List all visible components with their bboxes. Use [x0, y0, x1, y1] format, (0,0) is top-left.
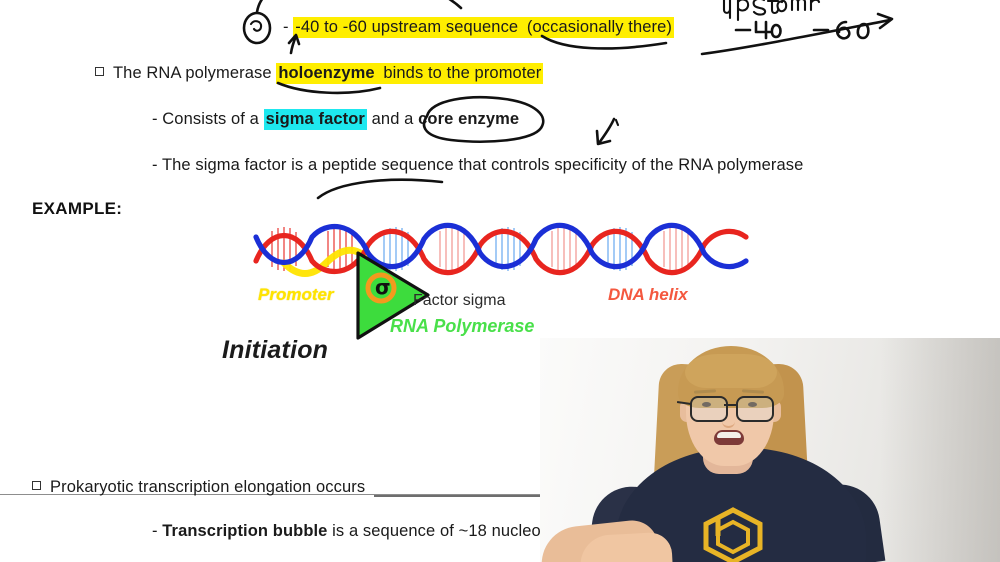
bullet-consists-before: - Consists of a [152, 110, 264, 128]
handwritten-arrow-downleft [592, 116, 622, 150]
bullet-square-icon [95, 67, 104, 76]
bullet-holoenzyme-before: The RNA polymerase [113, 64, 276, 82]
rna-polymerase-label: RNA Polymerase [390, 316, 534, 337]
presenter-hair-bangs [685, 354, 777, 388]
bullet-sigma-factor-highlight: sigma factor [264, 109, 367, 130]
bullet-elongation: Prokaryotic transcription elongation occ… [32, 478, 365, 497]
bullet-bubble-bold: Transcription bubble [162, 522, 327, 540]
initiation-label: Initiation [222, 336, 328, 365]
lecture-slide: - -40 to -60 upstream sequence (occasion… [0, 0, 1000, 562]
bullet-core-enzyme: core enzyme [418, 110, 519, 128]
presenter-webcam-overlay [540, 338, 1000, 562]
handwritten-curve-top [255, 0, 465, 14]
bullet-holoenzyme-after: binds to the promoter [377, 63, 544, 84]
dna-helix-label: DNA helix [608, 285, 688, 305]
handwritten-underline-sigma-desc [316, 176, 446, 202]
bullet-consists-of: - Consists of a sigma factor and a core … [152, 110, 519, 129]
bullet-upstream-prefix: - [283, 18, 293, 36]
dna-transcription-diagram: σ Promoter Factor sigma RNA Polymerase D… [250, 215, 750, 350]
factor-sigma-label: Factor sigma [413, 292, 505, 310]
bullet-sigma-factor-description: - The sigma factor is a peptide sequence… [152, 156, 803, 175]
bullet-upstream-suffix: (occasionally there) [520, 17, 674, 38]
presenter-nose [722, 414, 735, 428]
bullet-upstream-sequence: - -40 to -60 upstream sequence (occasion… [283, 18, 674, 37]
handwritten-circle-annotation [240, 10, 280, 50]
bullet-bubble-before: - [152, 522, 162, 540]
presenter-teeth [717, 432, 741, 438]
example-label: EXAMPLE: [32, 199, 122, 219]
presenter-glasses-right-lens [736, 396, 774, 422]
bullet-holoenzyme-highlight: holoenzyme [276, 63, 376, 84]
presenter-shirt-logo [698, 506, 768, 562]
handwritten-upstream-note [718, 0, 908, 56]
bullet-square-icon [32, 481, 41, 490]
bullet-consists-middle: and a [367, 110, 418, 128]
bullet-holoenzyme: The RNA polymerase holoenzyme binds to t… [95, 64, 543, 83]
bullet-elongation-text: Prokaryotic transcription elongation occ… [50, 478, 365, 496]
promoter-label: Promoter [258, 285, 334, 305]
sigma-symbol: σ [375, 277, 391, 297]
bullet-upstream-highlight: -40 to -60 upstream sequence [293, 17, 520, 38]
webcam-background-shadow [880, 338, 1000, 562]
presenter-glasses-bridge [724, 404, 736, 406]
